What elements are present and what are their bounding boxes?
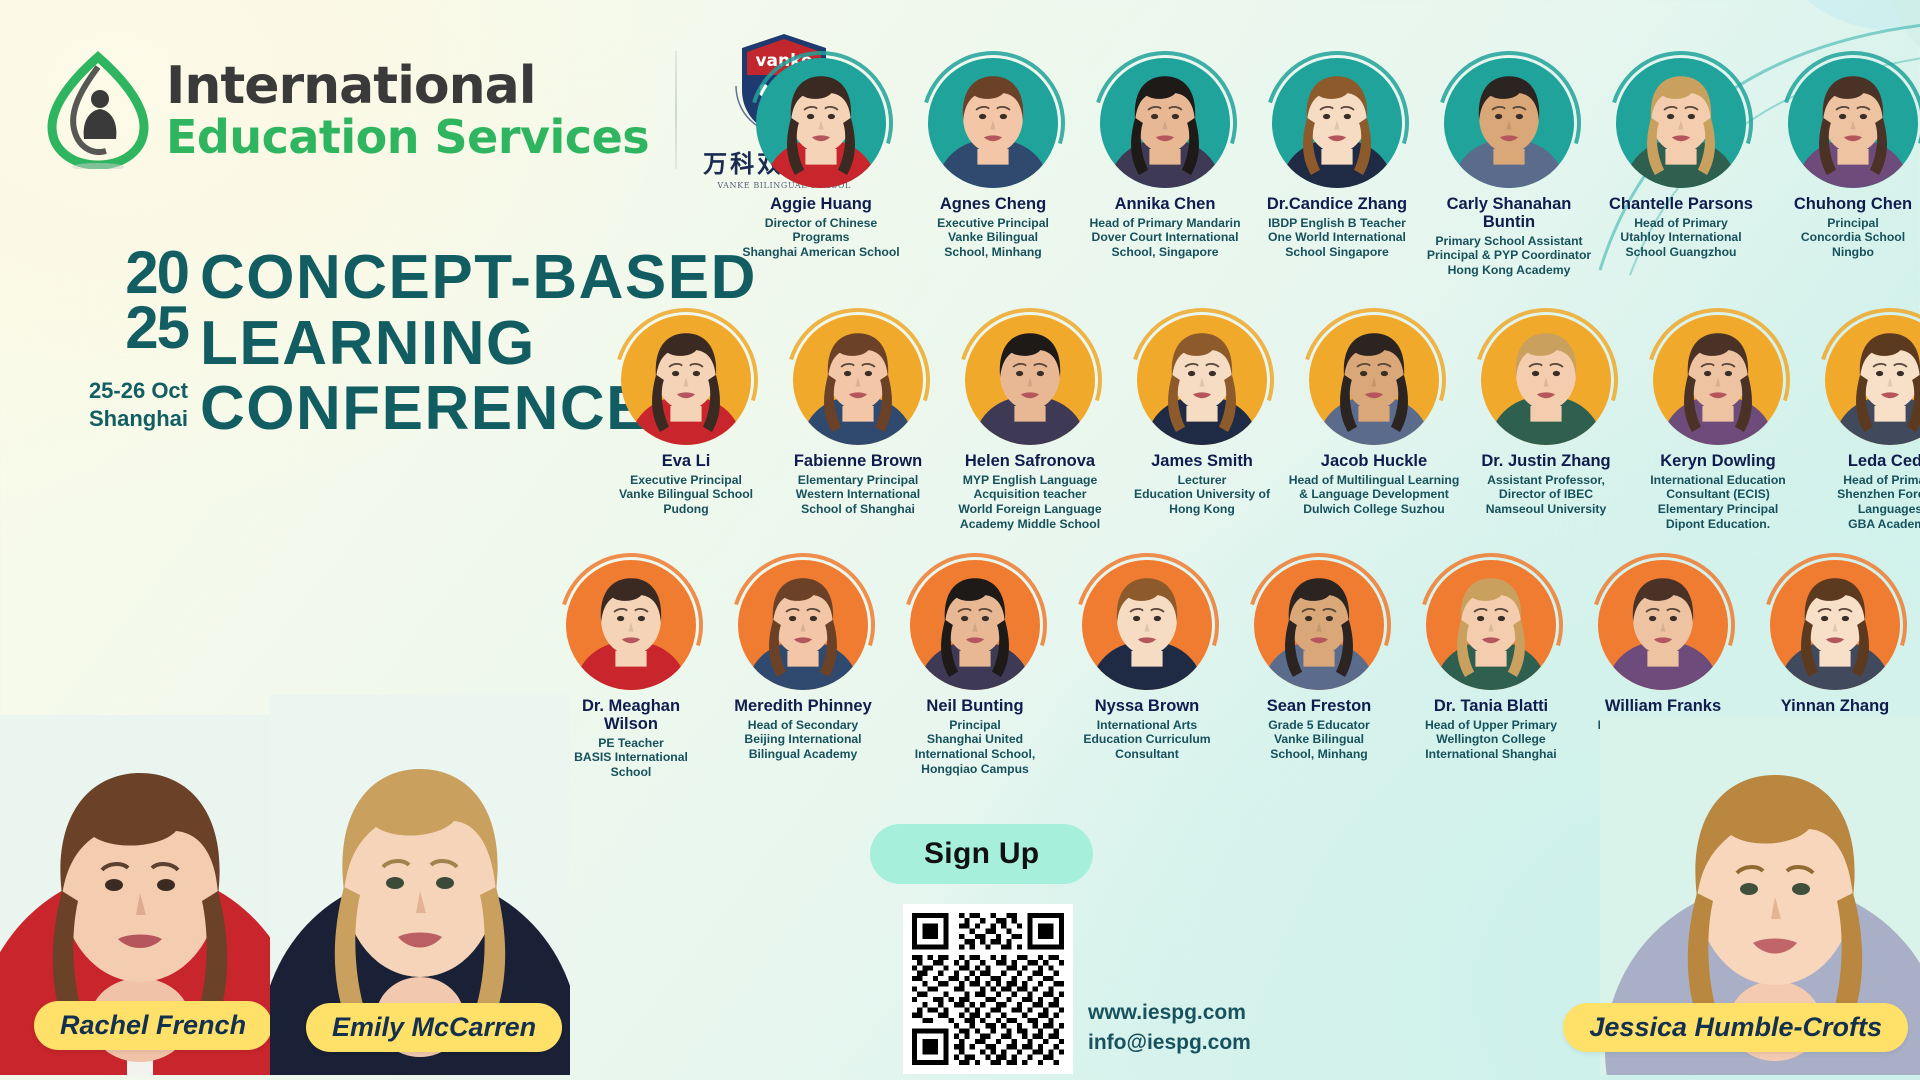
speaker-portrait (1426, 560, 1556, 690)
ies-logo: International Education Services (44, 51, 649, 169)
speaker-portrait (1616, 58, 1746, 188)
speaker-avatar (1788, 58, 1918, 188)
year-bottom: 25 (125, 300, 188, 355)
speaker-avatar (566, 560, 696, 690)
featured-name-pill: Rachel French (34, 1001, 272, 1050)
speaker-name: James Smith (1151, 453, 1253, 471)
speaker-name: Agnes Cheng (940, 196, 1046, 214)
speaker-portrait (1254, 560, 1384, 690)
speaker-name: Dr. Justin Zhang (1481, 453, 1610, 471)
speaker-row-1: Aggie HuangDirector of Chinese Programs … (735, 58, 1920, 278)
speaker-name: Chantelle Parsons (1609, 196, 1753, 214)
speaker-portrait (621, 315, 751, 445)
featured-name-pill: Jessica Humble-Crofts (1563, 1003, 1908, 1052)
conference-date: 25-26 Oct (80, 377, 188, 405)
speaker-card[interactable]: Fabienne BrownElementary Principal Weste… (772, 315, 944, 531)
speaker-role: Lecturer Education University of Hong Ko… (1134, 473, 1270, 517)
speaker-avatar (1481, 315, 1611, 445)
speaker-card[interactable]: Eva LiExecutive Principal Vanke Bilingua… (600, 315, 772, 531)
speaker-name: Annika Chen (1115, 196, 1216, 214)
speaker-portrait (1788, 58, 1918, 188)
speaker-name: Jacob Huckle (1321, 453, 1427, 471)
speaker-card[interactable]: Dr. Tania BlattiHead of Upper Primary We… (1405, 560, 1577, 780)
speaker-avatar (1309, 315, 1439, 445)
email-text[interactable]: info@iespg.com (1088, 1028, 1251, 1058)
speaker-role: International Arts Education Curriculum … (1083, 718, 1210, 762)
speaker-card[interactable]: Dr. Justin ZhangAssistant Professor, Dir… (1460, 315, 1632, 531)
speaker-card[interactable]: Neil BuntingPrincipal Shanghai United In… (889, 560, 1061, 780)
speaker-name: Eva Li (662, 453, 711, 471)
speaker-card[interactable]: Chantelle ParsonsHead of Primary Utahloy… (1595, 58, 1767, 278)
ies-logo-line1: International (166, 60, 649, 112)
ies-logo-line2: Education Services (166, 114, 649, 160)
speaker-avatar (1825, 315, 1920, 445)
qr-code-svg (912, 913, 1064, 1065)
speaker-portrait (1100, 58, 1230, 188)
speaker-portrait (965, 315, 1095, 445)
speaker-name: Dr. Tania Blatti (1434, 698, 1548, 716)
speaker-card[interactable]: Meredith PhinneyHead of Secondary Beijin… (717, 560, 889, 780)
year-top: 20 (125, 245, 188, 300)
speaker-portrait (1444, 58, 1574, 188)
speaker-card[interactable]: Agnes ChengExecutive Principal Vanke Bil… (907, 58, 1079, 278)
speaker-name: Fabienne Brown (794, 453, 922, 471)
speaker-name: Aggie Huang (770, 196, 872, 214)
speaker-role: Head of Secondary Beijing International … (744, 718, 861, 762)
speaker-name: Helen Safronova (965, 453, 1095, 471)
title-line-1: CONCEPT-BASED (200, 245, 757, 311)
speaker-name: William Franks (1605, 698, 1721, 716)
featured-name-pill: Emily McCarren (306, 1003, 562, 1052)
speaker-avatar (1770, 560, 1900, 690)
speaker-avatar (621, 315, 751, 445)
website-text[interactable]: www.iespg.com (1088, 998, 1251, 1028)
speaker-name: Dr.Candice Zhang (1267, 196, 1407, 214)
speaker-role: Assistant Professor, Director of IBEC Na… (1486, 473, 1607, 517)
speaker-avatar (1616, 58, 1746, 188)
speaker-avatar (738, 560, 868, 690)
featured-speaker-emily-mccarren: Emily McCarren (270, 695, 570, 1080)
speaker-card[interactable]: Nyssa BrownInternational Arts Education … (1061, 560, 1233, 780)
contact-info: www.iespg.com info@iespg.com (1088, 998, 1251, 1059)
speaker-name: Carly Shanahan Buntin (1447, 196, 1572, 232)
speaker-name: Yinnan Zhang (1781, 698, 1889, 716)
logo-divider (675, 51, 677, 169)
speaker-row-2: Eva LiExecutive Principal Vanke Bilingua… (600, 315, 1920, 531)
speaker-portrait (928, 58, 1058, 188)
date-location: 25-26 Oct Shanghai (80, 377, 188, 432)
speaker-card[interactable]: Jacob HuckleHead of Multilingual Learnin… (1288, 315, 1460, 531)
speaker-avatar (965, 315, 1095, 445)
speaker-name: Neil Bunting (926, 698, 1023, 716)
speaker-card[interactable]: Dr. Meaghan WilsonPE Teacher BASIS Inter… (545, 560, 717, 780)
speaker-role: Head of Primary Shenzhen Foreign Languag… (1837, 473, 1920, 532)
speaker-role: Principal Concordia School Ningbo (1801, 216, 1905, 260)
speaker-avatar (793, 315, 923, 445)
speaker-card[interactable]: Chuhong ChenPrincipal Concordia School N… (1767, 58, 1920, 278)
speaker-card[interactable]: Keryn DowlingInternational Education Con… (1632, 315, 1804, 531)
speaker-card[interactable]: Dr.Candice ZhangIBDP English B Teacher O… (1251, 58, 1423, 278)
speaker-role: Head of Upper Primary Wellington College… (1425, 718, 1557, 762)
leaf-person-logo-icon (44, 51, 152, 169)
speaker-role: PE Teacher BASIS International School (574, 736, 688, 780)
speaker-card[interactable]: Annika ChenHead of Primary Mandarin Dove… (1079, 58, 1251, 278)
speaker-avatar (1426, 560, 1556, 690)
speaker-role: Executive Principal Vanke Bilingual Scho… (619, 473, 753, 517)
speaker-card[interactable]: Sean FrestonGrade 5 Educator Vanke Bilin… (1233, 560, 1405, 780)
speaker-role: IBDP English B Teacher One World Interna… (1268, 216, 1406, 260)
speaker-avatar (1100, 58, 1230, 188)
speaker-name: Nyssa Brown (1095, 698, 1200, 716)
speaker-role: Grade 5 Educator Vanke Bilingual School,… (1268, 718, 1370, 762)
speaker-name: Meredith Phinney (734, 698, 872, 716)
speaker-role: Executive Principal Vanke Bilingual Scho… (937, 216, 1049, 260)
speaker-name: Keryn Dowling (1660, 453, 1776, 471)
speaker-portrait (1272, 58, 1402, 188)
speaker-role: International Education Consultant (ECIS… (1650, 473, 1785, 532)
speaker-name: Dr. Meaghan Wilson (582, 698, 680, 734)
speaker-avatar (1598, 560, 1728, 690)
speaker-name: Leda Cedo (1848, 453, 1920, 471)
year-column: 20 25 (80, 245, 188, 355)
speaker-role: Elementary Principal Western Internation… (796, 473, 920, 517)
speaker-role: Head of Primary Mandarin Dover Court Int… (1089, 216, 1240, 260)
speaker-avatar (1272, 58, 1402, 188)
speaker-avatar (910, 560, 1040, 690)
speaker-card[interactable]: Leda CedoHead of Primary Shenzhen Foreig… (1804, 315, 1920, 531)
speaker-name: Chuhong Chen (1794, 196, 1912, 214)
speaker-role: Head of Multilingual Learning & Language… (1289, 473, 1460, 517)
speaker-role: Primary School Assistant Principal & PYP… (1427, 234, 1591, 278)
speaker-card[interactable]: Aggie HuangDirector of Chinese Programs … (735, 58, 907, 278)
speaker-role: Principal Shanghai United International … (915, 718, 1036, 777)
speaker-portrait (756, 58, 886, 188)
speaker-portrait (1082, 560, 1212, 690)
speaker-portrait (793, 315, 923, 445)
speaker-portrait (1481, 315, 1611, 445)
speaker-portrait (1137, 315, 1267, 445)
speaker-portrait (738, 560, 868, 690)
speaker-card[interactable]: Carly Shanahan BuntinPrimary School Assi… (1423, 58, 1595, 278)
featured-speaker-rachel-french: Rachel French (0, 715, 290, 1080)
speaker-portrait (1770, 560, 1900, 690)
speaker-portrait (1598, 560, 1728, 690)
speaker-portrait (566, 560, 696, 690)
speaker-name: Sean Freston (1267, 698, 1372, 716)
speaker-card[interactable]: James SmithLecturer Education University… (1116, 315, 1288, 531)
speaker-avatar (1254, 560, 1384, 690)
featured-speaker-jessica-humble-crofts: Jessica Humble-Crofts (1600, 715, 1920, 1080)
speaker-avatar (1137, 315, 1267, 445)
conference-city: Shanghai (80, 405, 188, 433)
speaker-avatar (756, 58, 886, 188)
sign-up-button[interactable]: Sign Up (870, 824, 1093, 884)
qr-code-icon[interactable] (903, 904, 1073, 1074)
speaker-avatar (1653, 315, 1783, 445)
speaker-role: Head of Primary Utahloy International Sc… (1620, 216, 1741, 260)
speaker-portrait (1653, 315, 1783, 445)
speaker-role: MYP English Language Acquisition teacher… (958, 473, 1101, 532)
speaker-role: Director of Chinese Programs Shanghai Am… (742, 216, 899, 260)
speaker-avatar (928, 58, 1058, 188)
speaker-avatar (1082, 560, 1212, 690)
speaker-portrait (1309, 315, 1439, 445)
speaker-avatar (1444, 58, 1574, 188)
speaker-portrait (910, 560, 1040, 690)
speaker-card[interactable]: Helen SafronovaMYP English Language Acqu… (944, 315, 1116, 531)
